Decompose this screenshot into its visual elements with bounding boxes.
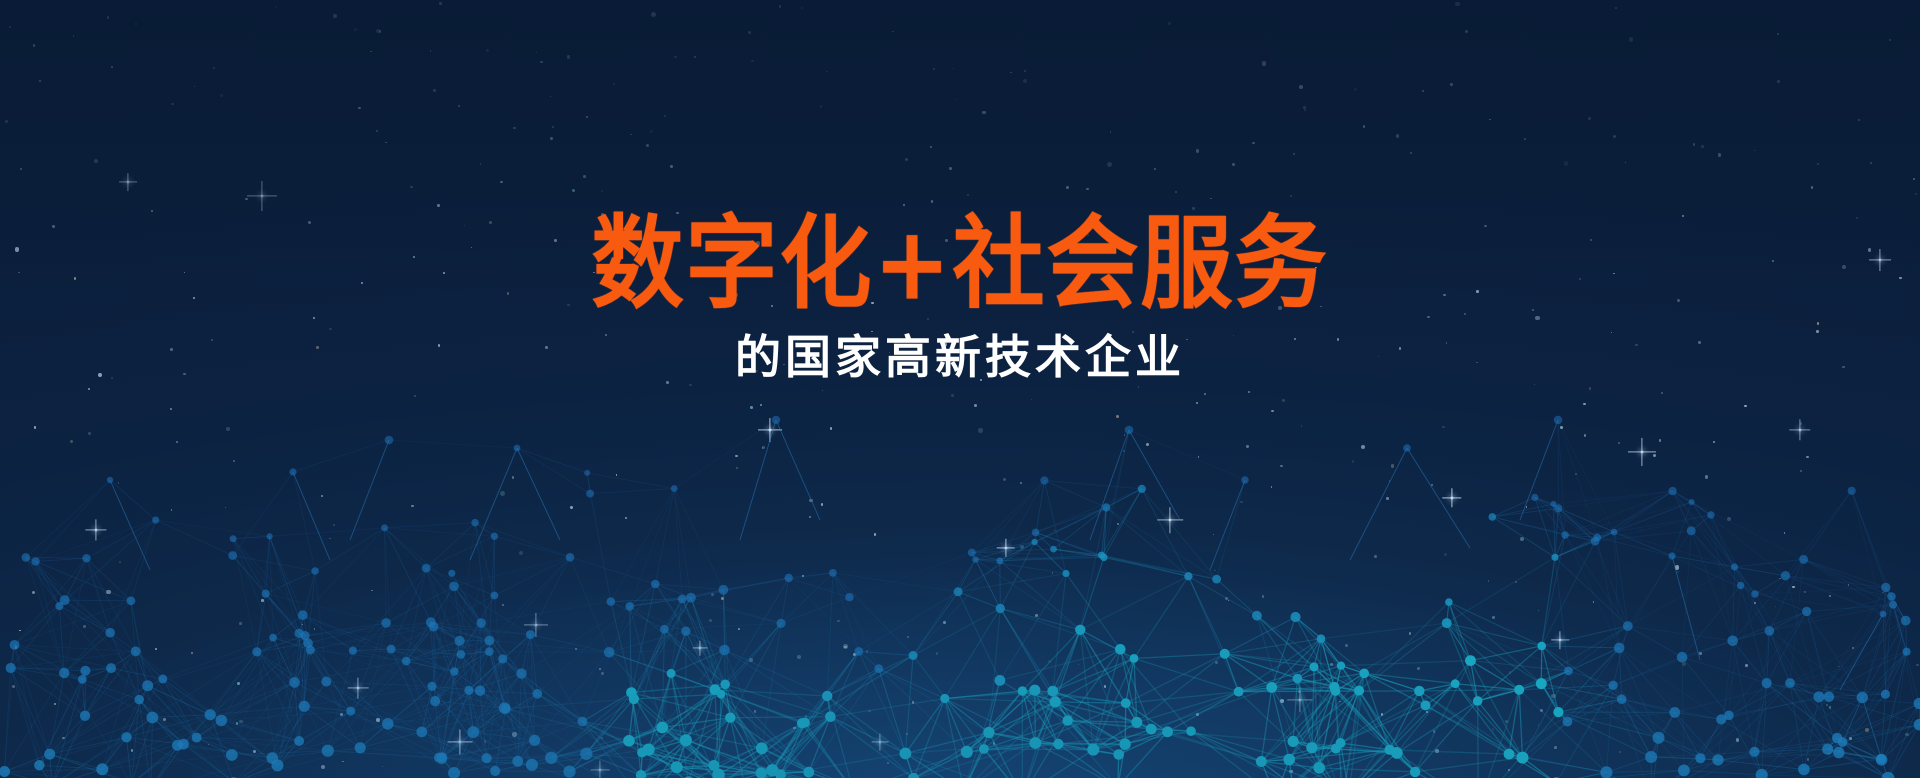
hero-banner: 数字化+社会服务 的国家高新技术企业 (0, 0, 1920, 778)
hero-text-block: 数字化+社会服务 的国家高新技术企业 (0, 214, 1920, 380)
page-title: 数字化+社会服务 (0, 214, 1920, 315)
background-gradient (0, 0, 1920, 778)
page-subtitle: 的国家高新技术企业 (0, 334, 1920, 380)
